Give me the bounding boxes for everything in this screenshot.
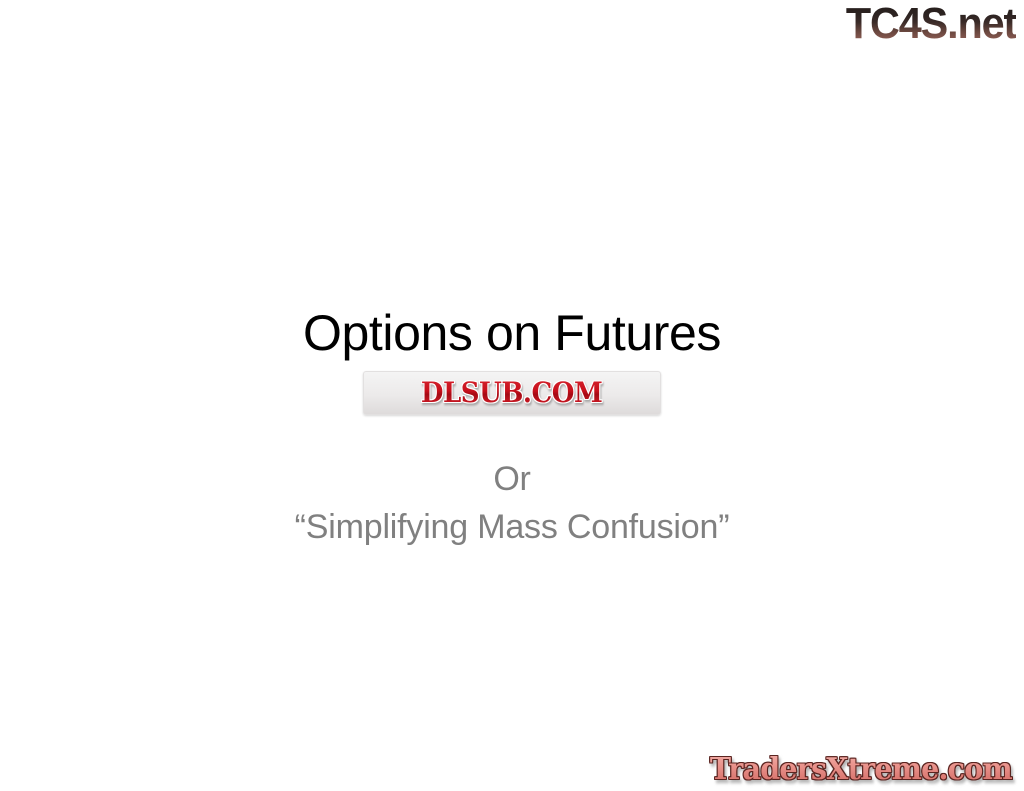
subtitle-line-quote: “Simplifying Mass Confusion” bbox=[0, 503, 1024, 551]
tc4s-watermark-label: TC4S.net bbox=[846, 2, 1016, 46]
tradersxtreme-watermark: TradersXtreme.com bbox=[694, 755, 1012, 785]
tradersxtreme-watermark-label: TradersXtreme.com bbox=[710, 755, 1012, 785]
subtitle-block: Or “Simplifying Mass Confusion” bbox=[0, 455, 1024, 552]
title-block: Options on Futures bbox=[0, 305, 1024, 361]
subtitle-line-or: Or bbox=[0, 455, 1024, 503]
dlsub-logo-watermark: DLSUB.COM bbox=[363, 371, 661, 415]
page-title: Options on Futures bbox=[0, 305, 1024, 361]
presentation-slide: TC4S.net Options on Futures DLSUB.COM Or… bbox=[0, 0, 1024, 791]
dlsub-logo-label: DLSUB.COM bbox=[421, 379, 603, 407]
tc4s-watermark: TC4S.net bbox=[835, 2, 1016, 46]
